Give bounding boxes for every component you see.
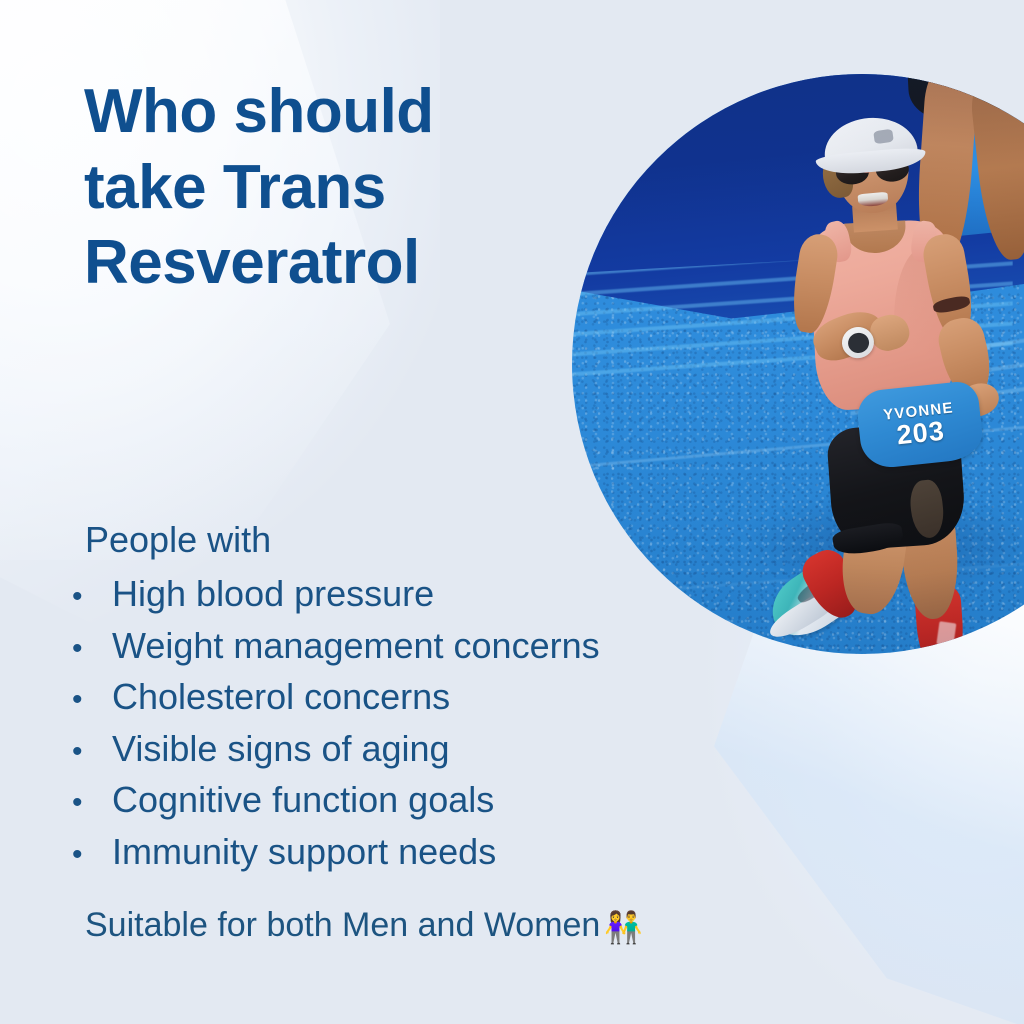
list-item-label: Cholesterol concerns [112,673,450,722]
calf-sleeve-logo [936,621,956,646]
bullet-icon: • [72,625,112,674]
bullet-icon: • [72,779,112,828]
list-item-label: Weight management concerns [112,622,600,671]
bullet-icon: • [72,831,112,880]
benefits-list: • High blood pressure • Weight managemen… [72,570,600,879]
list-item-label: Cognitive function goals [112,776,494,825]
page-title: Who should take Trans Resveratrol [84,74,554,301]
list-item: • Cognitive function goals [72,776,600,828]
runner-photo: #GOA24 [572,74,1024,654]
race-bib-number: 203 [896,417,947,449]
suitability-note-text: Suitable for both Men and Women [85,906,600,944]
list-item-label: Visible signs of aging [112,725,450,774]
suitability-note: Suitable for both Men and Women👫 [85,905,643,946]
list-item-label: Immunity support needs [112,828,496,877]
bullet-icon: • [72,676,112,725]
runner-figure: YVONNE 203 [572,74,1024,654]
man-and-woman-holding-hands-icon: 👫 [604,910,643,945]
list-item: • Cholesterol concerns [72,673,600,725]
runner-photo-scene: #GOA24 [572,74,1024,654]
list-item: • Weight management concerns [72,622,600,674]
bullet-icon: • [72,728,112,777]
list-item-label: High blood pressure [112,570,434,619]
list-item: • Visible signs of aging [72,725,600,777]
bullet-icon: • [72,573,112,622]
list-item: • High blood pressure [72,570,600,622]
race-bib: YVONNE 203 [855,380,984,471]
list-item: • Immunity support needs [72,828,600,880]
running-cap-logo [873,128,893,143]
promo-card: Who should take Trans Resveratrol People… [0,0,1024,1024]
list-intro-label: People with [85,518,271,562]
